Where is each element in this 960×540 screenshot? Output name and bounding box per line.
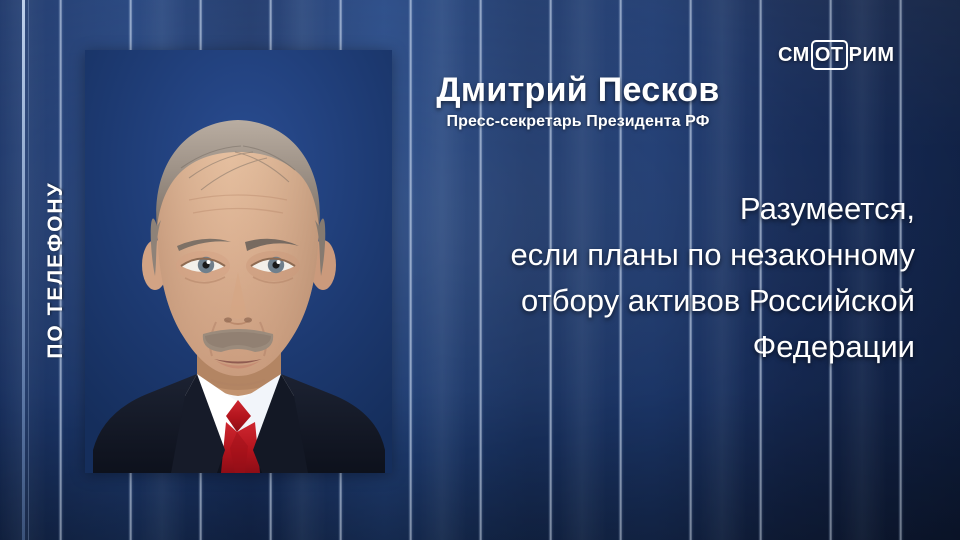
quote-line: Федерации [375,324,915,370]
phone-connection-bar: ПО ТЕЛЕФОНУ [28,0,84,540]
logo-suffix: РИМ [849,45,895,65]
quote-line: отбору активов Российской [375,278,915,324]
quote-line: если планы по незаконному [375,232,915,278]
broadcast-lower-third-screen: ПО ТЕЛЕФОНУ [0,0,960,540]
quote-block: Разумеется, если планы по незаконному от… [375,186,915,370]
smotrim-logo: СМ ОТ РИМ [778,41,895,69]
speaker-name-block: Дмитрий Песков Пресс-секретарь Президент… [408,72,748,131]
speaker-portrait [85,50,392,473]
quote-line: Разумеется, [375,186,915,232]
logo-prefix: СМ [778,45,810,65]
portrait-illustration [85,50,392,473]
phone-bar-left-edge-highlight [22,0,25,540]
speaker-name: Дмитрий Песков [408,72,748,108]
logo-boxed-letters: ОТ [811,40,848,70]
phone-connection-label: ПО ТЕЛЕФОНУ [44,181,68,358]
speaker-title: Пресс-секретарь Президента РФ [408,113,748,131]
